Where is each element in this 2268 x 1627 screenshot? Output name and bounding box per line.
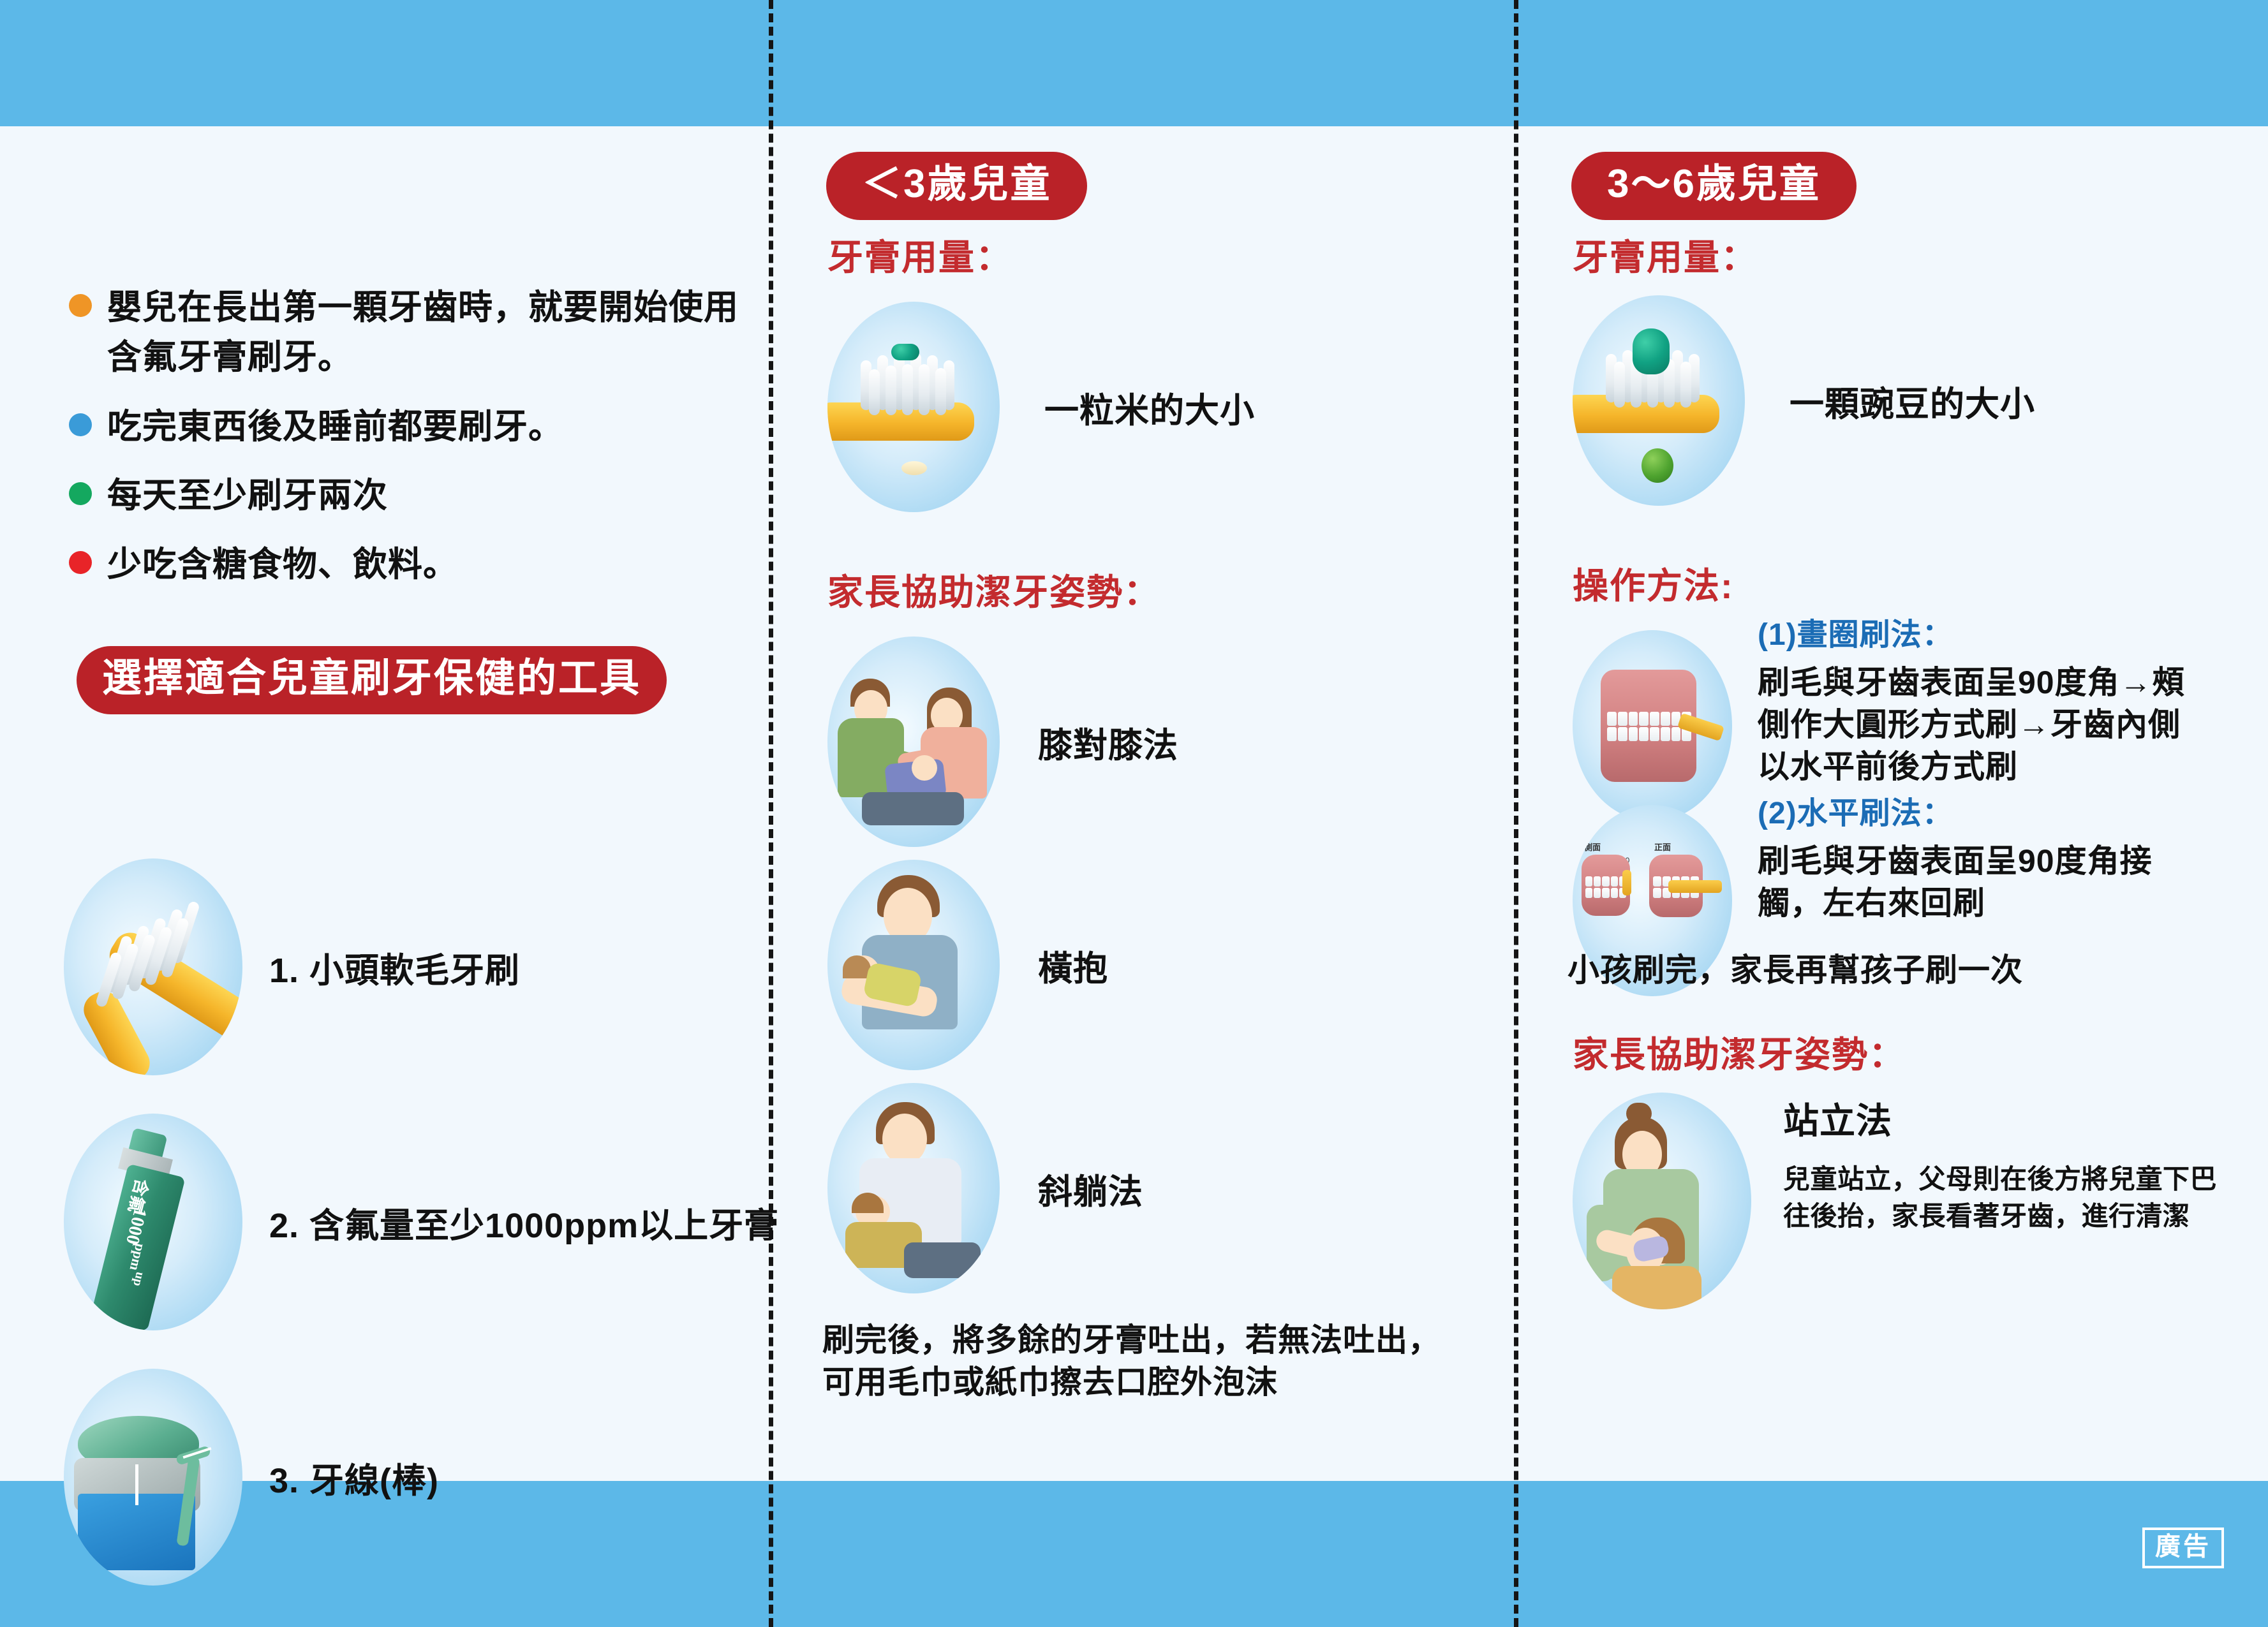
method-text-block: (1)畫圈刷法： 刷毛與牙齒表面呈90度角→頰側作大圓形方式刷→牙齒內側以水平前… [1758,617,2204,788]
standing-posture-icon [1573,1093,1751,1309]
tool-item-toothbrush: 1. 小頭軟毛牙刷 [64,858,753,1075]
column-left: 嬰兒在長出第一顆牙齒時，就要開始使用含氟牙膏刷牙。 吃完東西後及睡前都要刷牙。 … [0,126,769,1481]
posture-heading: 家長協助潔牙姿勢： [1573,1035,1906,1075]
tools-banner: 選擇適合兒童刷牙保健的工具 [77,646,667,714]
method-heading: 操作方法: [1573,566,1734,606]
column-under-3: ＜3歲兒童 牙膏用量： 一粒米的大小 家長協助潔牙姿勢： [769,126,1514,1481]
tool-label: 2. 含氟量至少1000ppm以上牙膏 [269,1197,779,1248]
pea-size-brush-icon [1573,295,1745,506]
knee-to-knee-icon [827,637,1000,847]
bullet-dot-orange [69,294,92,317]
bullet-dot-green [69,482,92,505]
standing-text-block: 站立法 兒童站立，父母則在後方將兒童下巴往後抬，家長看著牙齒，進行清潔 [1783,1093,2230,1235]
tool-label: 3. 牙線(棒) [269,1452,439,1503]
list-item: 吃完東西後及睡前都要刷牙。 [69,402,745,452]
list-item: 嬰兒在長出第一顆牙齒時，就要開始使用含氟牙膏刷牙。 [69,283,745,383]
posture-heading: 家長協助潔牙姿勢： [827,573,1160,612]
method-body: 刷毛與牙齒表面呈90度角接觸，左右來回刷 [1758,840,2204,924]
bullet-text: 少吃含糖食物、飲料。 [107,540,458,589]
bullet-text: 嬰兒在長出第一顆牙齒時，就要開始使用含氟牙膏刷牙。 [107,283,745,383]
list-item: 少吃含糖食物、飲料。 [69,540,745,589]
dental-floss-icon [64,1369,242,1586]
tools-banner-label: 選擇適合兒童刷牙保健的工具 [77,646,667,714]
age-badge-under-3: ＜3歲兒童 [826,152,1087,220]
rice-grain-brush-icon [827,302,1000,512]
paste-amount-row: 一顆豌豆的大小 [1573,295,2035,506]
age-badge-label: ＜3歲兒童 [826,152,1087,220]
age-badge-label: 3～6歲兒童 [1571,152,1857,220]
paste-amount-row: 一粒米的大小 [827,302,1255,512]
paste-amount-label: 一粒米的大小 [1044,382,1255,432]
toothbrush-icon [64,858,242,1075]
paste-amount-label: 一顆豌豆的大小 [1790,376,2035,426]
spit-out-note: 刷完後，將多餘的牙膏吐出，若無法吐出， 可用毛巾或紙巾擦去口腔外泡沫 [822,1319,1492,1403]
posture-item-reclining: 斜躺法 [827,1083,1143,1293]
method-text-block: (2)水平刷法： 刷毛與牙齒表面呈90度角接觸，左右來回刷 [1758,796,2204,924]
tool-item-toothpaste: 含氟 1000 ppm up 2. 含氟量至少1000ppm以上牙膏 [64,1114,753,1330]
posture-label: 斜躺法 [1038,1163,1143,1214]
bullet-dot-red [69,551,92,574]
header-band [0,0,2268,126]
method-footnote: 小孩刷完，家長再幫孩子刷一次 [1568,949,2023,991]
toothpaste-tube-icon: 含氟 1000 ppm up [64,1114,242,1330]
bullet-text: 每天至少刷牙兩次 [107,471,388,520]
paste-amount-heading: 牙膏用量： [827,238,1012,277]
standing-title: 站立法 [1783,1093,2230,1144]
posture-item-cradle: 橫抱 [827,860,1108,1070]
list-item: 每天至少刷牙兩次 [69,471,745,520]
spit-out-note-line2: 可用毛巾或紙巾擦去口腔外泡沫 [822,1361,1492,1403]
method-body: 刷毛與牙齒表面呈90度角→頰側作大圓形方式刷→牙齒內側以水平前後方式刷 [1758,661,2204,788]
reclining-icon [827,1083,1000,1293]
method-title: (2)水平刷法： [1758,796,2204,831]
standing-body: 兒童站立，父母則在後方將兒童下巴往後抬，家長看著牙齒，進行清潔 [1783,1161,2230,1235]
age-badge-3-to-6: 3～6歲兒童 [1571,152,1857,220]
posture-label: 橫抱 [1038,940,1108,990]
tool-item-floss: 3. 牙線(棒) [64,1369,753,1586]
column-3-to-6: 3～6歲兒童 牙膏用量： 一顆豌豆的大小 操作方法: [1514,126,2268,1481]
side-view-label: 側面 [1584,841,1601,853]
posture-item-knee-to-knee: 膝對膝法 [827,637,1178,847]
paste-amount-heading: 牙膏用量： [1573,238,1758,277]
leaflet-page: 嬰兒在長出第一顆牙齒時，就要開始使用含氟牙膏刷牙。 吃完東西後及睡前都要刷牙。 … [0,0,2268,1627]
bullet-dot-blue [69,413,92,436]
tool-label: 1. 小頭軟毛牙刷 [269,942,520,992]
teeth-circular-brushing-icon [1573,630,1732,821]
cradle-hold-icon [827,860,1000,1070]
posture-label: 膝對膝法 [1038,717,1178,767]
spit-out-note-line1: 刷完後，將多餘的牙膏吐出，若無法吐出， [822,1319,1492,1361]
posture-item-standing: 站立法 兒童站立，父母則在後方將兒童下巴往後抬，家長看著牙齒，進行清潔 [1573,1093,2230,1309]
ad-badge: 廣告 [2142,1528,2224,1568]
method-title: (1)畫圈刷法： [1758,617,2204,652]
bullet-text: 吃完東西後及睡前都要刷牙。 [107,402,563,452]
front-view-label: 正面 [1654,841,1671,853]
key-points-list: 嬰兒在長出第一顆牙齒時，就要開始使用含氟牙膏刷牙。 吃完東西後及睡前都要刷牙。 … [69,283,745,608]
method-item-circular: (1)畫圈刷法： 刷毛與牙齒表面呈90度角→頰側作大圓形方式刷→牙齒內側以水平前… [1573,617,2204,821]
